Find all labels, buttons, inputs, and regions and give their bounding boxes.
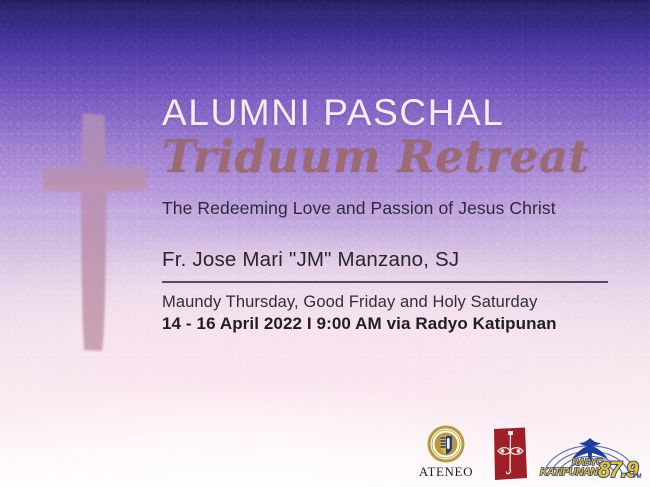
retreat-poster: ALUMNI PASCHAL Triduum Retreat The Redee… — [0, 0, 650, 487]
radyo-katipunan-logo: RADYO KATIPUNAN 87.9 FM — [538, 432, 642, 482]
date-days: Maundy Thursday, Good Friday and Holy Sa… — [162, 292, 632, 313]
title-main: ALUMNI PASCHAL — [162, 93, 632, 133]
ateneo-logo: ATENEO — [410, 424, 482, 482]
katipunan-word: KATIPUNAN — [540, 466, 598, 478]
ateneo-wordmark: ATENEO — [419, 464, 473, 479]
jesuit-red-logo — [490, 426, 530, 482]
title-script: Triduum Retreat — [162, 131, 632, 183]
poster-text-block: ALUMNI PASCHAL Triduum Retreat The Redee… — [162, 93, 632, 335]
radyo-band: FM — [633, 474, 642, 480]
divider — [162, 281, 608, 283]
speaker-name: Fr. Jose Mari "JM" Manzano, SJ — [162, 247, 632, 273]
date-time-channel: 14 - 16 April 2022 I 9:00 AM via Radyo K… — [162, 313, 632, 335]
logo-row: ATENEO — [410, 420, 642, 482]
cross-icon — [36, 112, 156, 355]
tagline: The Redeeming Love and Passion of Jesus … — [162, 197, 632, 219]
